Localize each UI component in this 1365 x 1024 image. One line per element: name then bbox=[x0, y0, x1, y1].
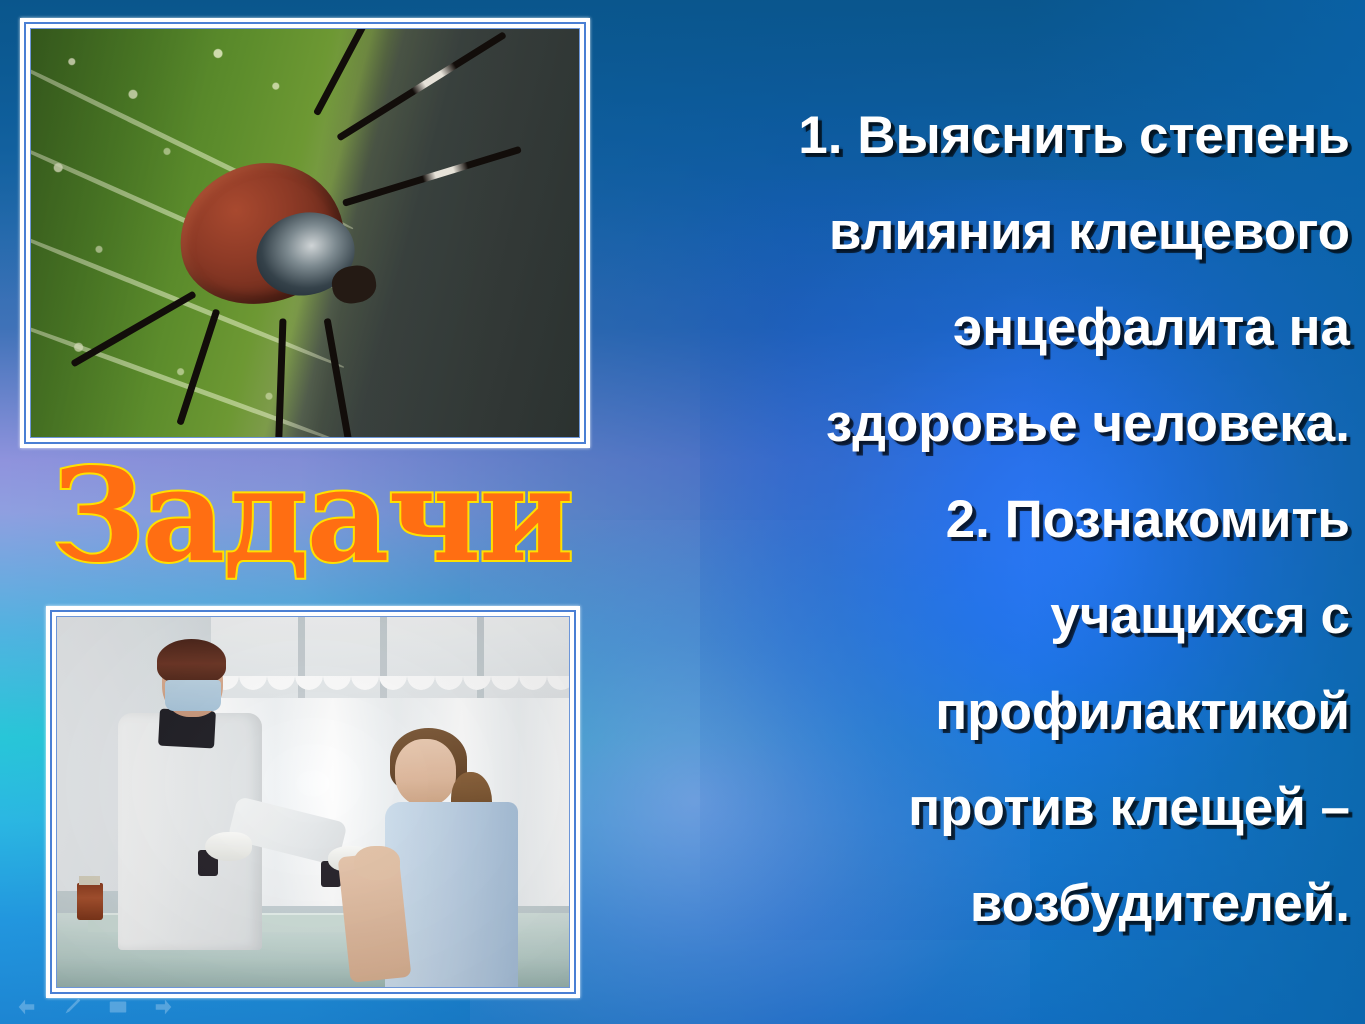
body-line: 2. Познакомить bbox=[608, 472, 1350, 568]
tick-photo-frame bbox=[20, 18, 590, 448]
tick-photo-frame-border bbox=[24, 22, 586, 444]
vaccination-photo-frame-border bbox=[50, 610, 576, 994]
nurse-face-mask bbox=[165, 680, 221, 711]
body-line: энцефалита на bbox=[608, 280, 1350, 376]
vaccination-photo-frame-inner bbox=[56, 616, 570, 988]
medicine-bottle-cap bbox=[79, 876, 101, 886]
body-line: учащихся с bbox=[608, 568, 1350, 664]
patient-hand bbox=[354, 846, 400, 879]
slide-body-text: 1. Выяснить степень влияния клещевого эн… bbox=[608, 88, 1350, 952]
nurse-glove bbox=[205, 832, 251, 862]
presentation-navigation-bar[interactable] bbox=[14, 996, 176, 1018]
next-slide-icon[interactable] bbox=[152, 996, 176, 1018]
body-line: влияния клещевого bbox=[608, 184, 1350, 280]
previous-slide-icon[interactable] bbox=[14, 996, 38, 1018]
presentation-slide: Задачи bbox=[0, 0, 1365, 1024]
body-line: здоровье человека. bbox=[608, 376, 1350, 472]
pen-tool-icon[interactable] bbox=[60, 996, 84, 1018]
body-line: 1. Выяснить степень bbox=[608, 88, 1350, 184]
page-title: Задачи bbox=[22, 452, 602, 580]
vaccination-photo-frame bbox=[46, 606, 580, 998]
tick-photo-frame-inner bbox=[30, 28, 580, 438]
body-line: против клещей – bbox=[608, 760, 1350, 856]
curtain-valance bbox=[211, 676, 569, 692]
body-line: возбудителей. bbox=[608, 856, 1350, 952]
patient-face bbox=[395, 739, 456, 806]
medicine-bottle bbox=[77, 883, 103, 920]
vaccination-photo bbox=[57, 617, 569, 987]
nurse-hair bbox=[157, 639, 226, 683]
tick-on-leaf-photo bbox=[31, 29, 579, 437]
slide-menu-icon[interactable] bbox=[106, 996, 130, 1018]
body-line: профилактикой bbox=[608, 664, 1350, 760]
